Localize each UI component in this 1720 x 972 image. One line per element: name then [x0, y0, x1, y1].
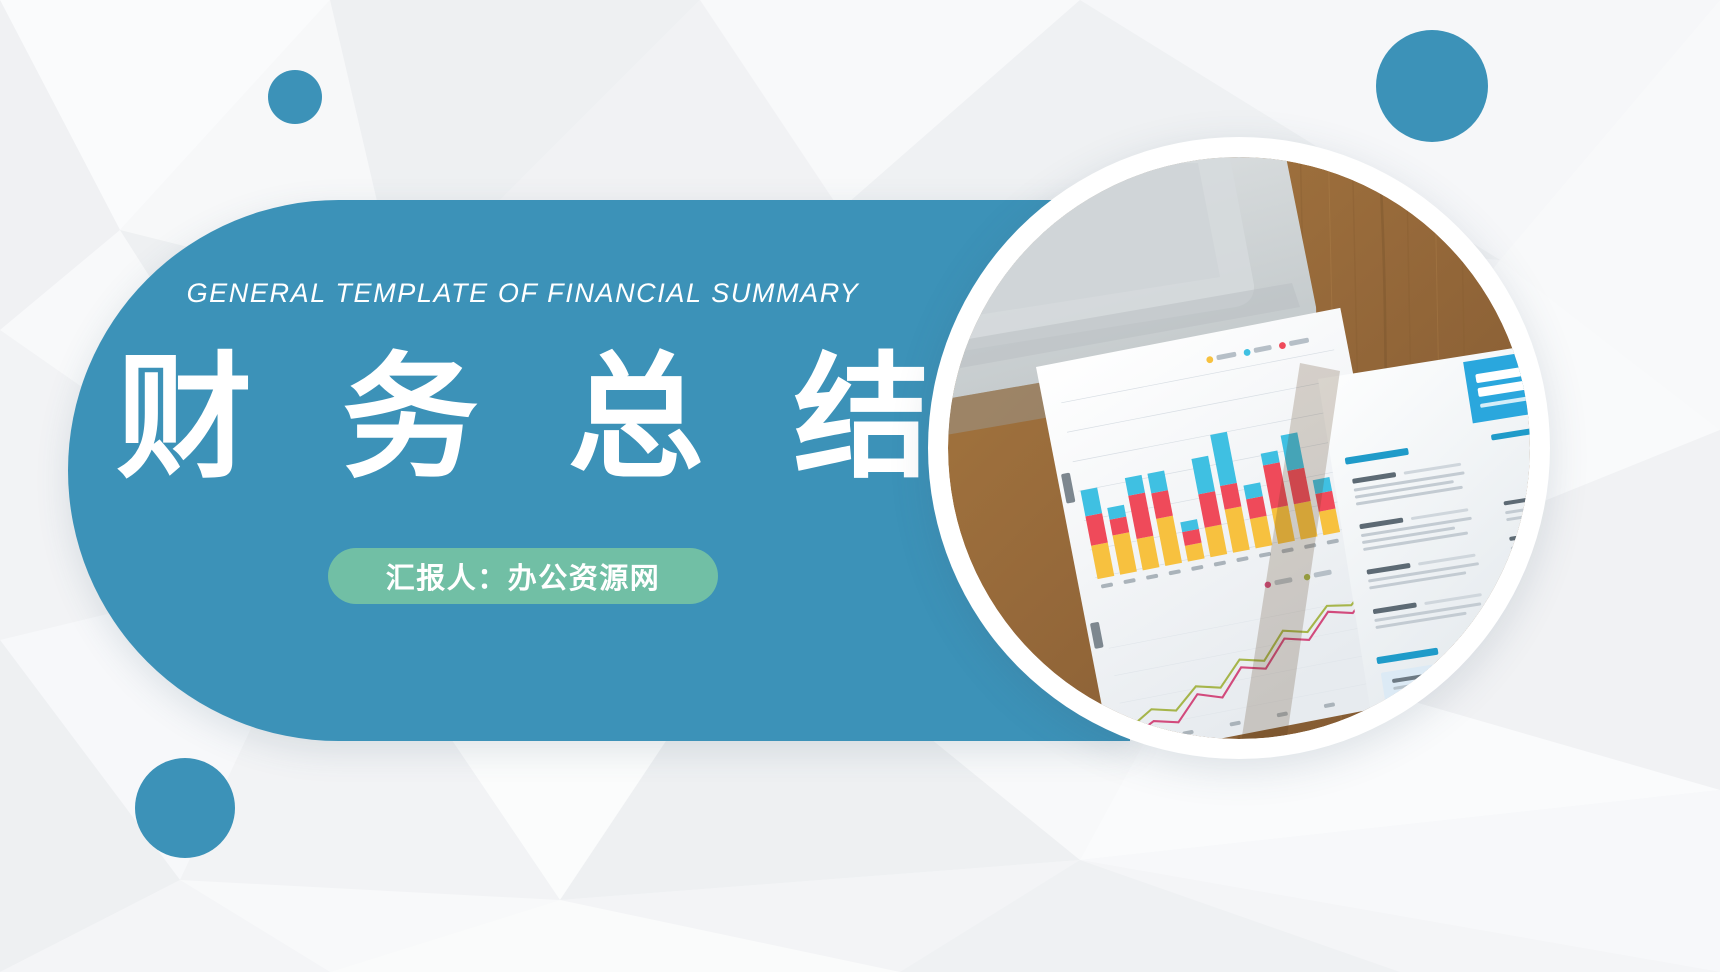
photo-clip	[948, 157, 1530, 739]
slide-subtitle: GENERAL TEMPLATE OF FINANCIAL SUMMARY	[68, 278, 978, 309]
decorative-dot-top-left	[268, 70, 322, 124]
photo-circle-frame	[928, 137, 1550, 759]
presenter-badge: 汇报人：办公资源网	[328, 548, 718, 604]
presenter-label: 汇报人：办公资源网	[386, 555, 661, 597]
decorative-dot-top-right	[1376, 30, 1488, 142]
page-title: 财 务 总 结	[68, 340, 978, 498]
desk-photo	[948, 157, 1530, 739]
title-panel-content: GENERAL TEMPLATE OF FINANCIAL SUMMARY 财 …	[68, 200, 978, 741]
slide-canvas: GENERAL TEMPLATE OF FINANCIAL SUMMARY 财 …	[0, 0, 1720, 972]
decorative-dot-bottom-left	[135, 758, 235, 858]
